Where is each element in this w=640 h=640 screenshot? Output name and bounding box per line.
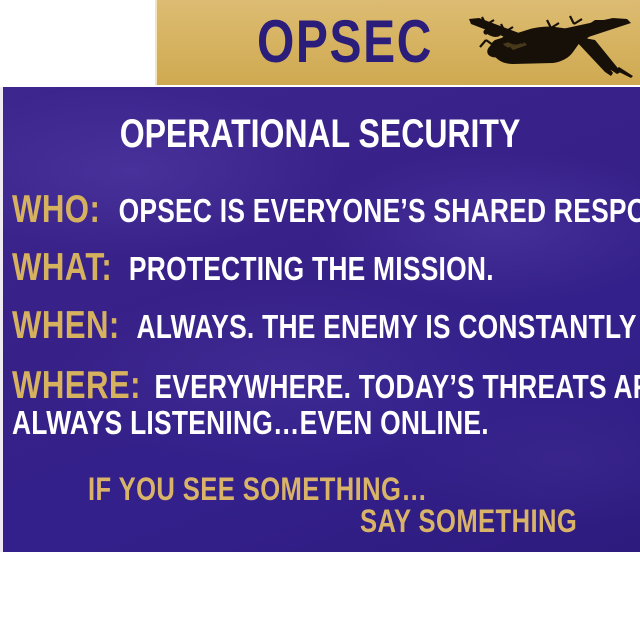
slogan-line-1-wrap: IF YOU SEE SOMETHING… [88,471,512,507]
emblem-motto-text: VIRTUS PERDURAT [0,552,1,553]
slogan-line-2: SAY SOMETHING [360,503,577,539]
qa-row-when: WHEN: ALWAYS. THE ENEMY IS CONSTANTLY WA… [12,306,640,347]
qa-label-who: WHO: [12,188,100,231]
qa-text-when: ALWAYS. THE ENEMY IS CONSTANTLY WATCHING… [136,308,640,345]
qa-label-what: WHAT: [12,246,112,289]
qa-text-where-continued: ALWAYS LISTENING…EVEN ONLINE. [12,404,489,442]
slogan-line-1: IF YOU SEE SOMETHING… [88,471,427,507]
qa-row-where-continued: ALWAYS LISTENING…EVEN ONLINE. [12,404,640,442]
qa-row-what: WHAT: PROTECTING THE MISSION. [12,248,640,289]
qa-text-who: OPSEC IS EVERYONE’S SHARED RESPONSIBILIT… [119,192,640,229]
qa-row-who: WHO: OPSEC IS EVERYONE’S SHARED RESPONSI… [12,190,640,231]
qa-row-where: WHERE: EVERYWHERE. TODAY’S THREATS ARE [12,366,640,407]
qa-text-what: PROTECTING THE MISSION. [129,250,494,287]
qa-label-where: WHERE: [12,364,141,407]
footer-band: VIRTUS PERDURAT VIRTUS PERDURAT [0,552,640,640]
page-title: OPSEC [241,7,449,77]
c130-aircraft-icon [455,6,635,80]
opsec-poster: OPSEC [0,0,640,640]
section-title: OPERATIONAL SECURITY [64,112,576,156]
header-band: OPSEC [0,0,640,87]
slogan-line-2-wrap: SAY SOMETHING [360,503,631,539]
qa-text-where: EVERYWHERE. TODAY’S THREATS ARE [154,368,640,405]
qa-label-when: WHEN: [12,304,120,347]
